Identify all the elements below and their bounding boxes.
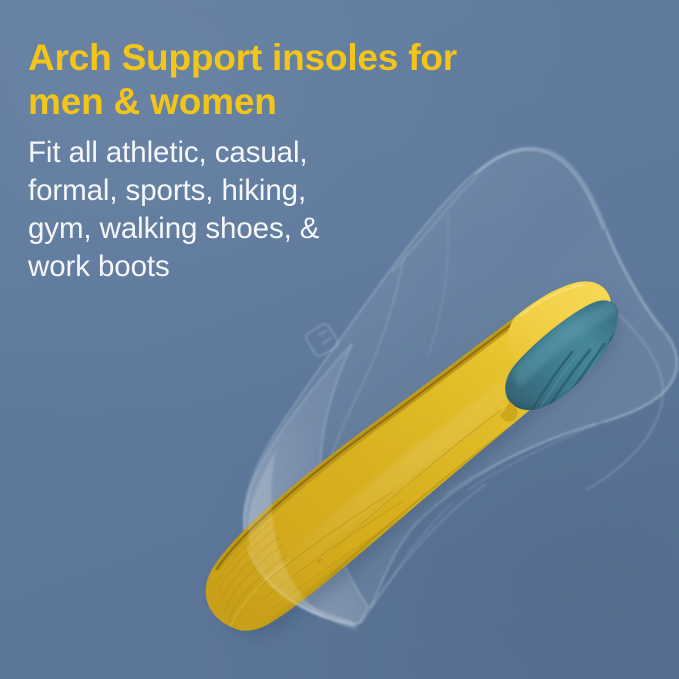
subcopy: Fit all athletic, casual, formal, sports…	[28, 134, 558, 286]
product-marketing-image: Arch Support insoles for men & women Fit…	[0, 0, 679, 679]
copy-block: Arch Support insoles for men & women Fit…	[28, 36, 558, 286]
headline: Arch Support insoles for men & women	[28, 36, 558, 124]
